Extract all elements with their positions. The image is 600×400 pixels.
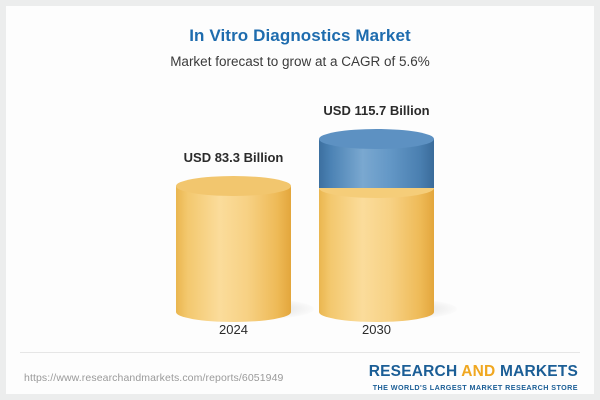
bar-category-label-2030: 2030 [319, 322, 434, 337]
bar-value-label-2030: USD 115.7 Billion [319, 103, 434, 118]
report-url[interactable]: https://www.researchandmarkets.com/repor… [24, 372, 283, 384]
logo-and-text: AND [461, 363, 495, 380]
bar-group-2024: USD 83.3 Billion 2024 [176, 6, 291, 352]
bar-top-ellipse-2024 [176, 176, 291, 196]
logo-wordmark: RESEARCH AND MARKETS [369, 364, 578, 380]
logo-markets-text: MARKETS [495, 363, 578, 380]
bar-body-2024 [176, 186, 291, 312]
bar-group-2030: USD 115.7 Billion 2030 [319, 6, 434, 352]
chart-plot-area: USD 83.3 Billion 2024 USD 115.7 Billion … [6, 6, 594, 352]
bar-value-label-2024: USD 83.3 Billion [176, 150, 291, 165]
logo-tagline: THE WORLD'S LARGEST MARKET RESEARCH STOR… [369, 383, 578, 392]
bar-cylinder-2030[interactable] [319, 129, 434, 312]
bar-body-base-2030 [319, 188, 434, 312]
chart-card: In Vitro Diagnostics Market Market forec… [6, 6, 594, 394]
bar-top-ellipse-2030 [319, 129, 434, 149]
logo-research-text: RESEARCH [369, 363, 462, 380]
bar-cylinder-2024[interactable] [176, 176, 291, 312]
footer-divider [20, 352, 580, 353]
bar-category-label-2024: 2024 [176, 322, 291, 337]
brand-logo[interactable]: RESEARCH AND MARKETS THE WORLD'S LARGEST… [369, 364, 578, 392]
